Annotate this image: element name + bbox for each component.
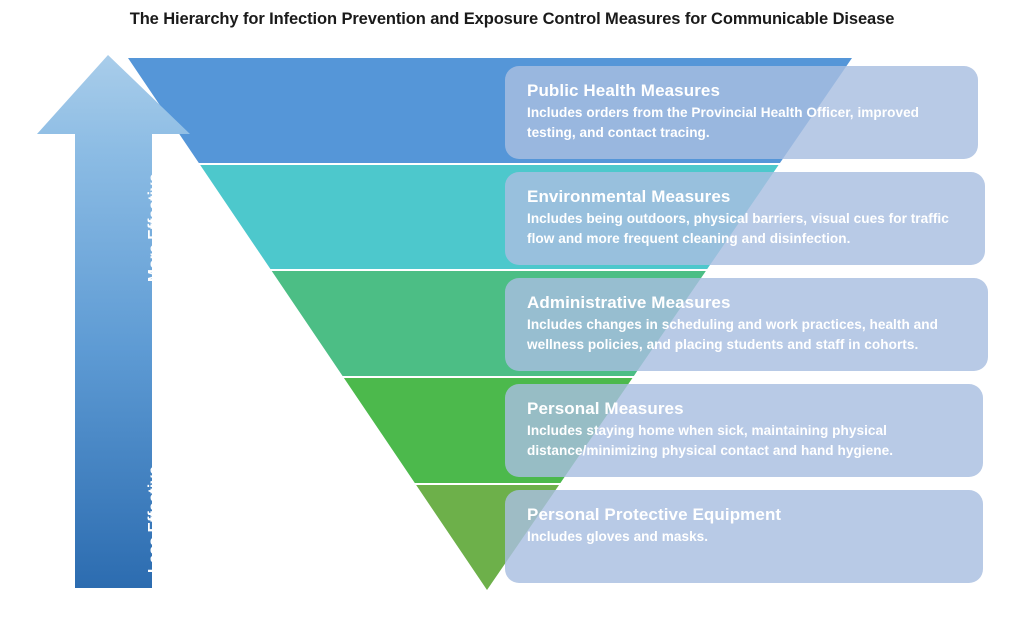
level-callout-environmental: Environmental Measures Includes being ou… — [505, 172, 985, 265]
level-description: Includes changes in scheduling and work … — [527, 315, 966, 355]
level-callout-administrative: Administrative Measures Includes changes… — [505, 278, 988, 371]
level-title: Environmental Measures — [527, 186, 963, 207]
level-callout-ppe: Personal Protective Equipment Includes g… — [505, 490, 983, 583]
level-title: Public Health Measures — [527, 80, 956, 101]
level-description: Includes being outdoors, physical barrie… — [527, 209, 963, 249]
level-description: Includes orders from the Provincial Heal… — [527, 103, 956, 143]
level-callout-personal: Personal Measures Includes staying home … — [505, 384, 983, 477]
level-title: Personal Measures — [527, 398, 961, 419]
level-title: Administrative Measures — [527, 292, 966, 313]
level-title: Personal Protective Equipment — [527, 504, 961, 525]
level-description: Includes gloves and masks. — [527, 527, 961, 547]
infographic-canvas: The Hierarchy for Infection Prevention a… — [0, 0, 1024, 621]
up-arrow-icon — [37, 55, 190, 588]
level-callout-public-health: Public Health Measures Includes orders f… — [505, 66, 978, 159]
level-description: Includes staying home when sick, maintai… — [527, 421, 961, 461]
